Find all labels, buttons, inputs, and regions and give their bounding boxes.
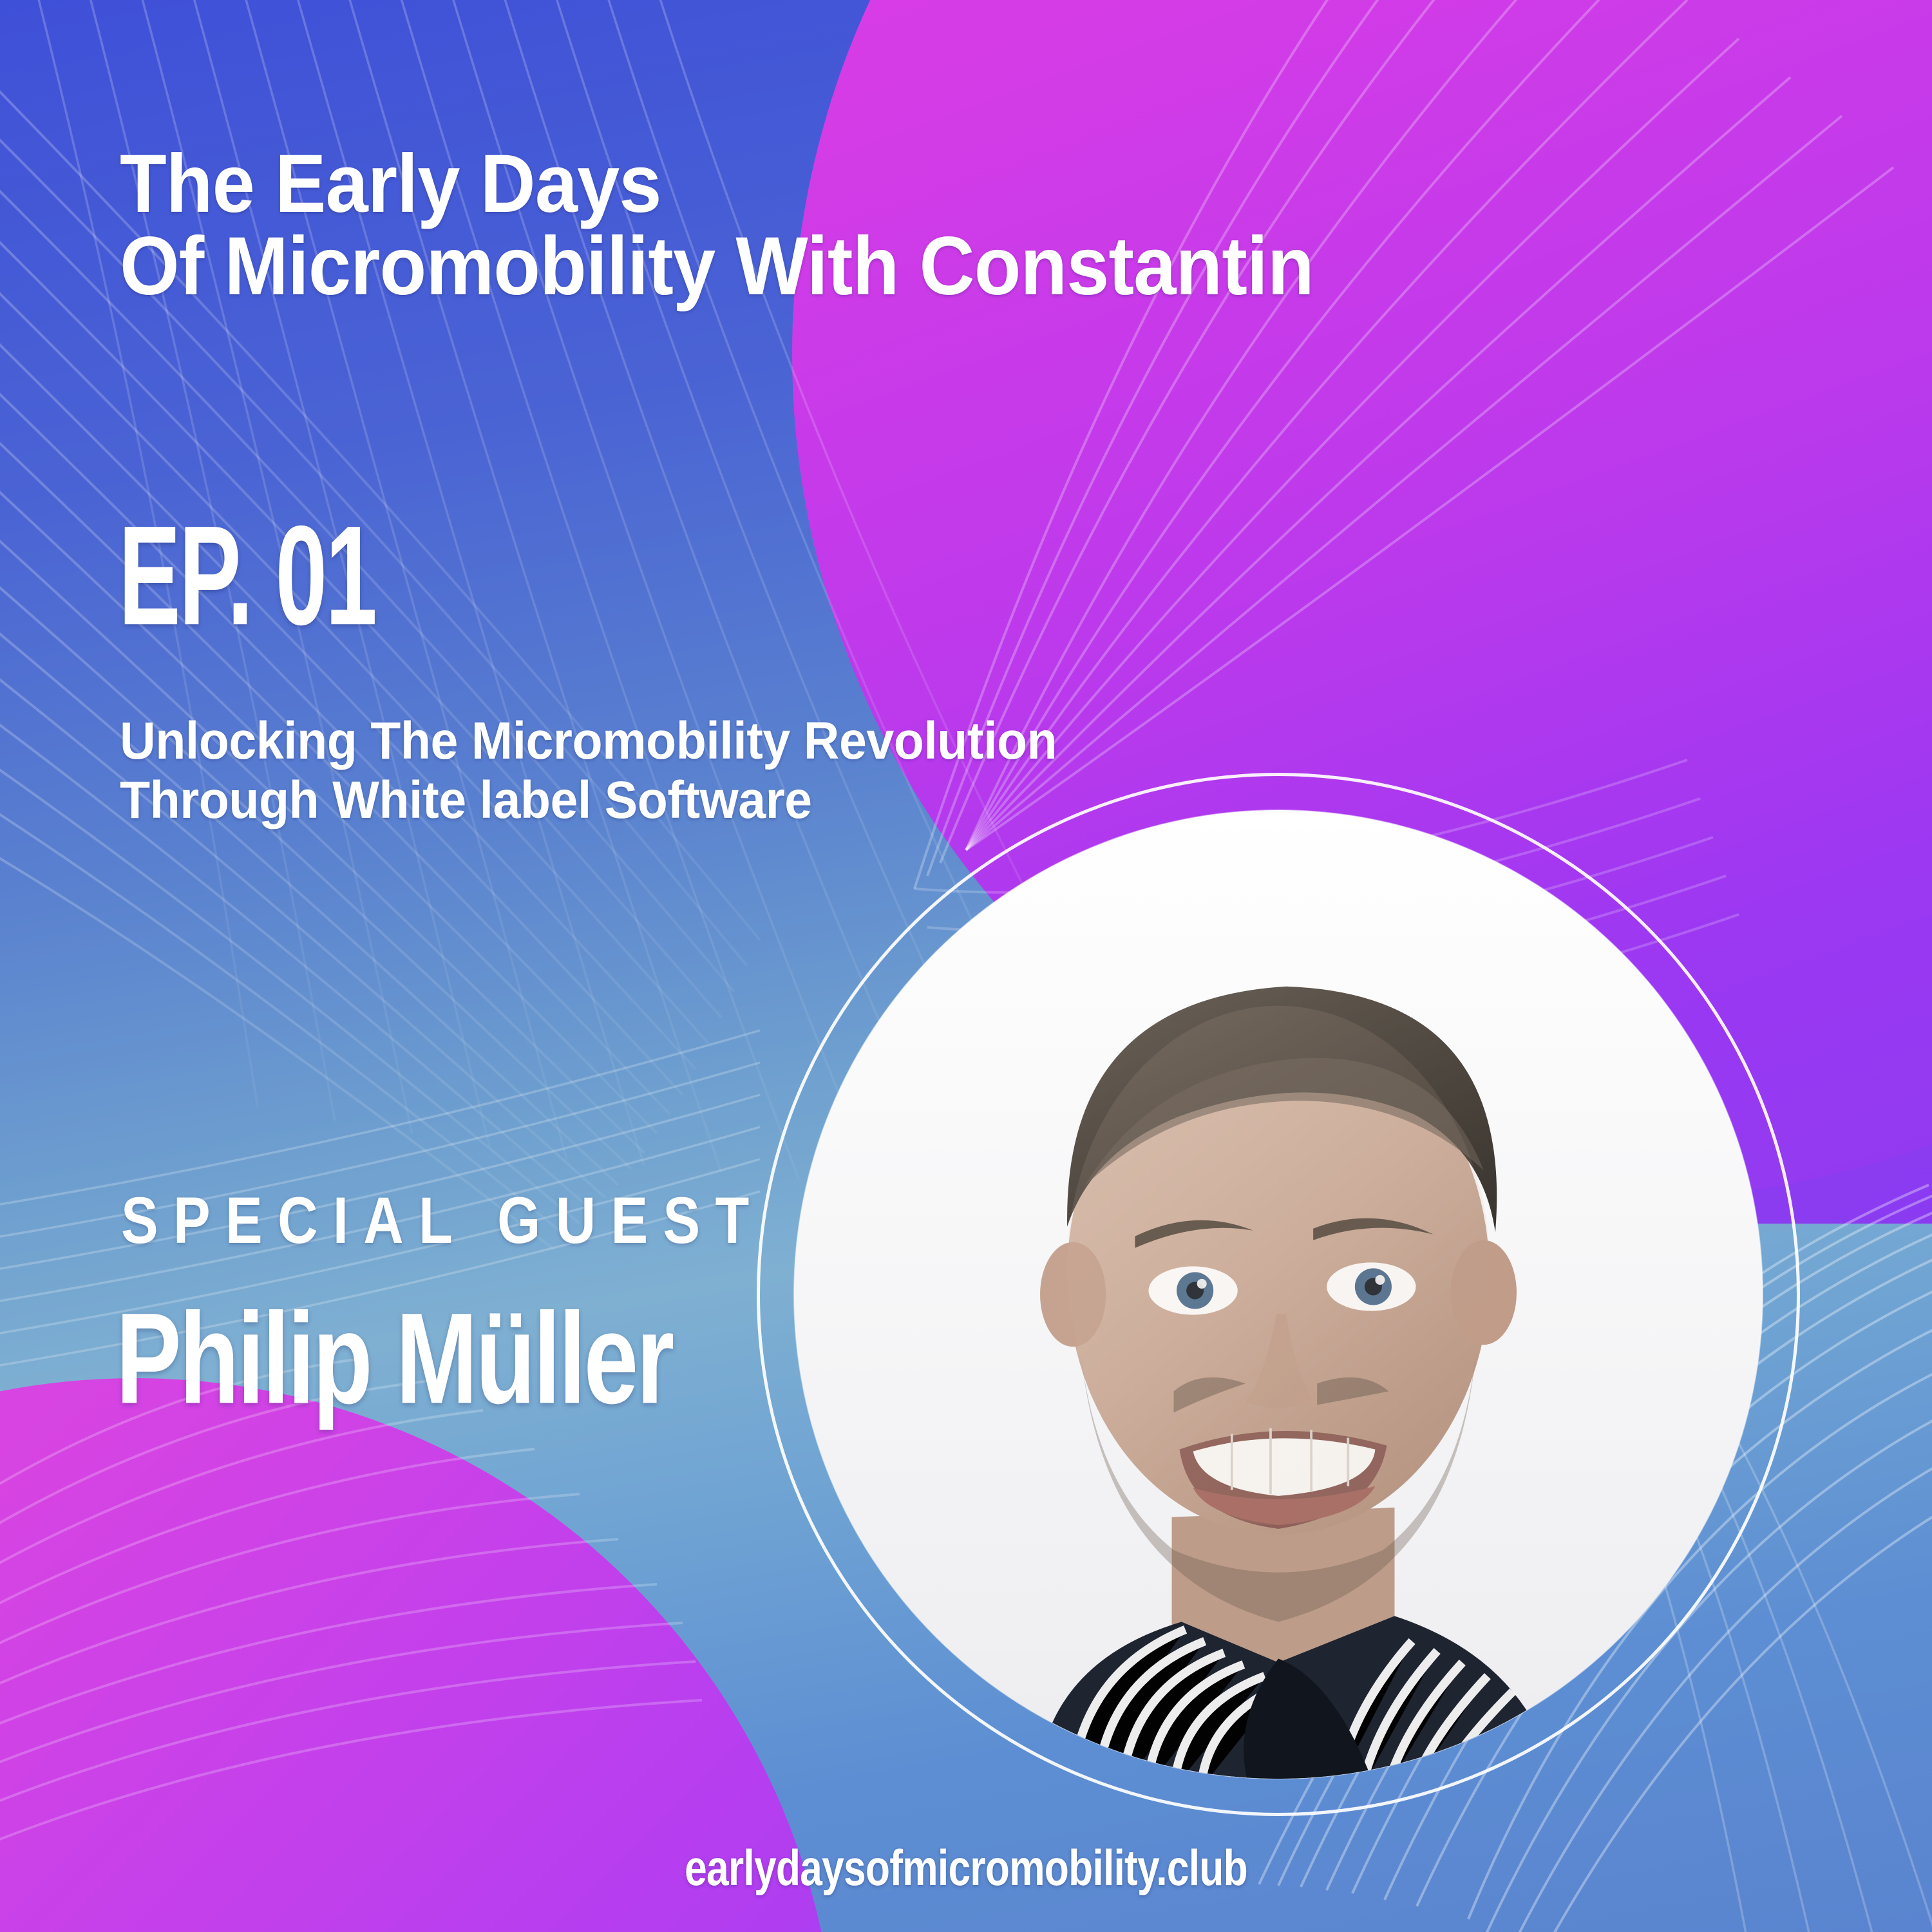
- episode-subtitle-line-1: Unlocking The Micromobility Revolution: [120, 712, 1391, 771]
- website-url: earlydaysofmicromobility.club: [193, 1839, 1739, 1897]
- portrait-ring-outline: [757, 773, 1800, 1816]
- guest-name: Philip Müller: [116, 1294, 672, 1424]
- episode-subtitle-line-2: Through White label Software: [120, 771, 1391, 830]
- show-title-line-1: The Early Days: [120, 143, 1653, 225]
- episode-subtitle: Unlocking The Micromobility Revolution T…: [120, 712, 1391, 830]
- show-title-line-2: Of Micromobility With Constantin: [120, 225, 1653, 308]
- episode-number: EP. 01: [118, 509, 375, 643]
- podcast-cover-art: The Early Days Of Micromobility With Con…: [0, 0, 1932, 1932]
- show-title: The Early Days Of Micromobility With Con…: [120, 143, 1653, 308]
- special-guest-label: SPECIAL GUEST: [121, 1184, 764, 1259]
- guest-portrait: [757, 773, 1800, 1816]
